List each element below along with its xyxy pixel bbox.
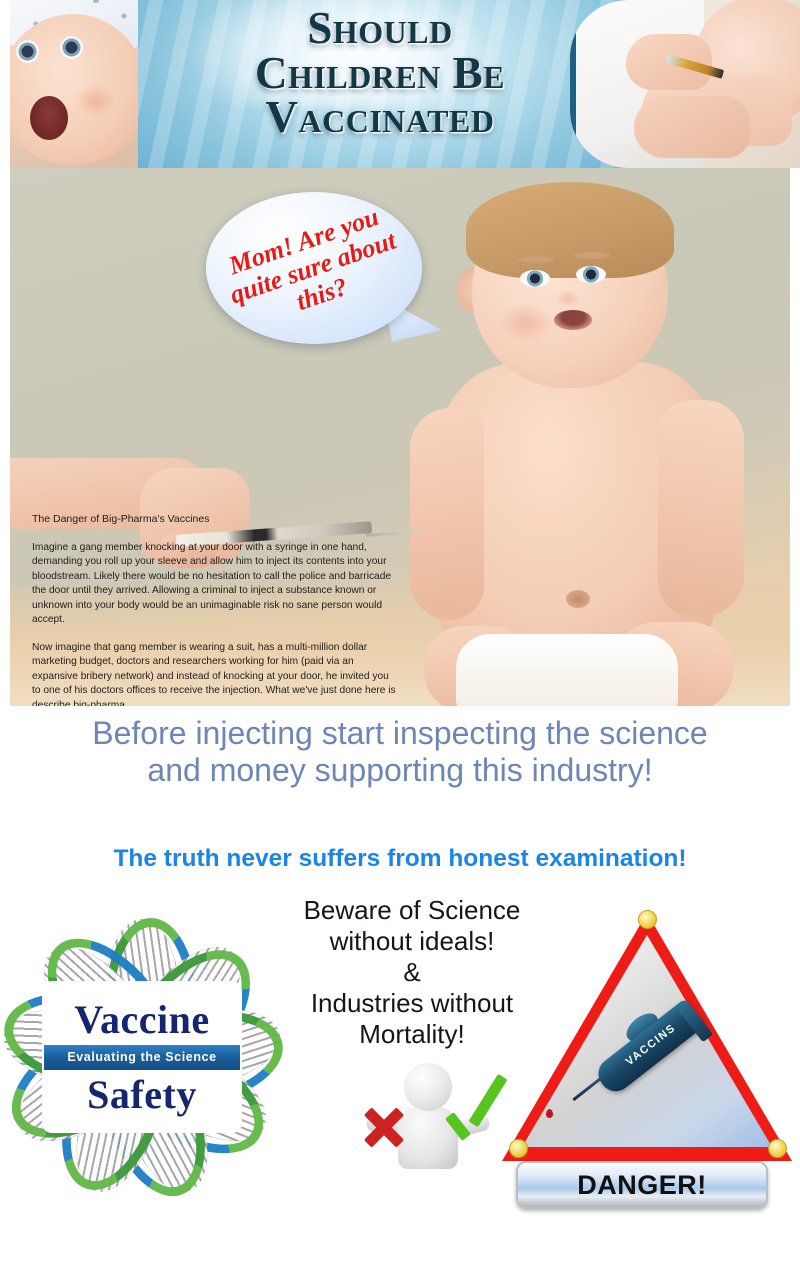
baby-right-arm — [658, 400, 744, 616]
baby-left-arm — [410, 408, 484, 620]
logo-word-safety: Safety — [87, 1075, 197, 1115]
triangle-bolt-bottom-right — [768, 1139, 787, 1158]
logo-wordmark: Vaccine Evaluating the Science Safety — [42, 981, 242, 1133]
article-title: The Danger of Big-Pharma's Vaccines — [32, 512, 400, 527]
article-paragraph-2: Now imagine that gang member is wearing … — [32, 641, 400, 706]
triangle-bolt-top — [638, 910, 657, 929]
seated-baby-figure — [380, 186, 780, 706]
tagline-truth: The truth never suffers from honest exam… — [0, 845, 800, 873]
logo-word-vaccine: Vaccine — [74, 1000, 209, 1040]
baby-mouth — [554, 310, 592, 330]
logo-tagline-text: Evaluating the Science — [67, 1050, 216, 1064]
baby-hair — [466, 182, 674, 278]
danger-plate: DANGER! — [516, 1161, 768, 1209]
choice-figure — [352, 1057, 502, 1187]
header-left-baby-photo — [10, 0, 138, 168]
page-title-line-1: Should — [170, 6, 590, 51]
tagline-primary-line-2: and money supporting this industry! — [0, 752, 800, 789]
article-overlay: The Danger of Big-Pharma's Vaccines Imag… — [32, 512, 400, 706]
baby-face — [10, 14, 138, 164]
article-paragraph-1: Imagine a gang member knocking at your d… — [32, 541, 400, 628]
baby-left-eye — [18, 42, 37, 61]
danger-warning-sign: VACCINS DANGER! — [502, 913, 792, 1213]
baby-diaper — [456, 634, 678, 706]
baby-cheek — [500, 304, 552, 342]
vaccine-safety-logo[interactable]: Vaccine Evaluating the Science Safety — [8, 925, 276, 1193]
triangle-bolt-bottom-left — [509, 1139, 528, 1158]
page-title: Should Children Be Vaccinated — [170, 6, 590, 140]
logo-tagline-bar: Evaluating the Science — [44, 1045, 240, 1070]
page-title-line-2: Children Be — [170, 51, 590, 96]
cross-icon — [358, 1101, 408, 1151]
baby-cheek — [76, 84, 116, 118]
check-icon — [442, 1081, 504, 1151]
clinician-hand-lower — [634, 96, 750, 158]
baby-nose — [556, 290, 580, 307]
baby-right-eye — [62, 38, 81, 57]
header-banner: Should Children Be Vaccinated — [10, 0, 800, 168]
baby-navel — [566, 590, 590, 608]
baby-left-eye — [520, 270, 550, 287]
danger-plate-label: DANGER! — [577, 1170, 707, 1201]
tagline-primary-line-1: Before injecting start inspecting the sc… — [0, 715, 800, 752]
baby-open-mouth — [30, 96, 68, 140]
blood-drop-icon — [546, 1109, 553, 1118]
bottom-row: Vaccine Evaluating the Science Safety Be… — [0, 885, 800, 1280]
speech-bubble — [206, 192, 422, 344]
baby-right-eye — [576, 266, 606, 283]
header-right-vaccination-photo — [570, 0, 800, 168]
main-photo: Mom! Are you quite sure about this? The … — [10, 168, 790, 706]
baby-left-eyebrow — [518, 256, 554, 263]
page-title-line-3: Vaccinated — [170, 95, 590, 140]
baby-right-eyebrow — [574, 252, 610, 259]
tagline-primary: Before injecting start inspecting the sc… — [0, 715, 800, 789]
